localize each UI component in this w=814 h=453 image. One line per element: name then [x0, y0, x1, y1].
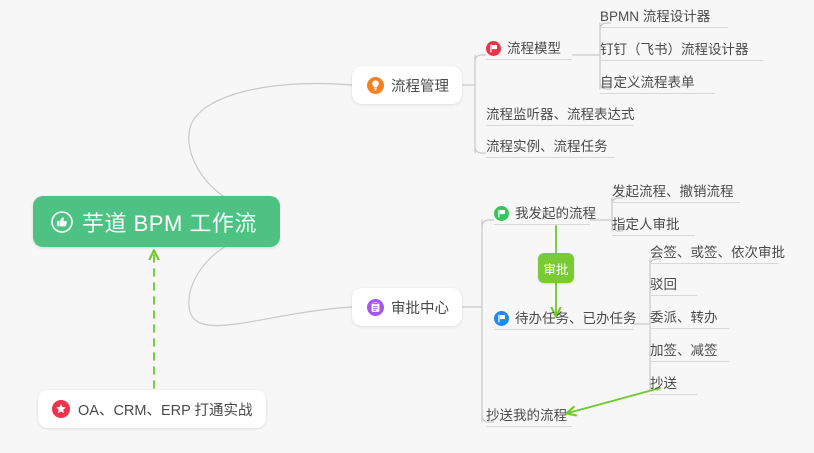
star-icon: [52, 400, 70, 418]
item-start-cancel-process[interactable]: 发起流程、撤销流程: [612, 183, 740, 203]
flag-icon: [486, 41, 501, 56]
item-process-instance[interactable]: 流程实例、流程任务: [486, 138, 615, 158]
item-assignee-approval[interactable]: 指定人审批: [612, 216, 695, 236]
item-add-remove-sign-label: 加签、减签: [650, 342, 718, 359]
bottom-node-integration[interactable]: OA、CRM、ERP 打通实战: [38, 390, 266, 428]
branch-approval-center-label: 审批中心: [391, 297, 449, 318]
branch-process-management[interactable]: 流程管理: [352, 66, 462, 104]
item-dingtalk-designer[interactable]: 钉钉（飞书）流程设计器: [600, 41, 763, 61]
item-bpmn-designer-label: BPMN 流程设计器: [600, 8, 710, 25]
item-reject[interactable]: 驳回: [650, 276, 697, 296]
item-process-model[interactable]: 流程模型: [486, 40, 572, 60]
approval-badge[interactable]: 审批: [538, 253, 574, 283]
item-process-listener-label: 流程监听器、流程表达式: [486, 106, 635, 123]
root-node-label: 芋道 BPM 工作流: [82, 206, 257, 238]
item-carbon-copy-label: 抄送: [650, 375, 677, 392]
cc-flow-arrow: [568, 388, 660, 413]
item-countersign-label: 会签、或签、依次审批: [650, 244, 785, 261]
bottom-node-label: OA、CRM、ERP 打通实战: [78, 399, 253, 420]
root-node[interactable]: 芋道 BPM 工作流: [33, 196, 280, 247]
item-cc-my-process-label: 抄送我的流程: [486, 407, 567, 424]
item-todo-done-tasks[interactable]: 待办任务、已办任务: [494, 310, 634, 330]
item-assignee-approval-label: 指定人审批: [612, 216, 680, 233]
item-process-model-label: 流程模型: [507, 40, 561, 57]
thumbs-up-icon: [51, 211, 73, 233]
item-add-remove-sign[interactable]: 加签、减签: [650, 342, 729, 362]
item-custom-form[interactable]: 自定义流程表单: [600, 74, 715, 94]
item-my-started-process-label: 我发起的流程: [515, 205, 596, 222]
item-delegate-transfer-label: 委派、转办: [650, 309, 718, 326]
branch-approval-center[interactable]: 审批中心: [352, 288, 462, 326]
mindmap-canvas: 芋道 BPM 工作流 流程管理 审批中心: [0, 0, 814, 453]
flag-icon: [494, 206, 509, 221]
item-todo-done-tasks-label: 待办任务、已办任务: [515, 310, 637, 327]
item-start-cancel-process-label: 发起流程、撤销流程: [612, 183, 734, 200]
item-process-instance-label: 流程实例、流程任务: [486, 138, 608, 155]
item-reject-label: 驳回: [650, 276, 677, 293]
clipboard-icon: [367, 299, 384, 316]
item-delegate-transfer[interactable]: 委派、转办: [650, 309, 729, 329]
item-custom-form-label: 自定义流程表单: [600, 74, 695, 91]
item-cc-my-process[interactable]: 抄送我的流程: [486, 407, 572, 427]
item-dingtalk-designer-label: 钉钉（飞书）流程设计器: [600, 41, 749, 58]
flag-icon: [494, 311, 509, 326]
branch-process-management-label: 流程管理: [391, 75, 449, 96]
item-process-listener[interactable]: 流程监听器、流程表达式: [486, 106, 633, 126]
item-carbon-copy[interactable]: 抄送: [650, 375, 697, 395]
item-countersign[interactable]: 会签、或签、依次审批: [650, 244, 778, 264]
approval-badge-label: 审批: [543, 259, 568, 278]
item-bpmn-designer[interactable]: BPMN 流程设计器: [600, 8, 728, 28]
lightbulb-icon: [367, 77, 384, 94]
item-my-started-process[interactable]: 我发起的流程: [494, 205, 590, 225]
